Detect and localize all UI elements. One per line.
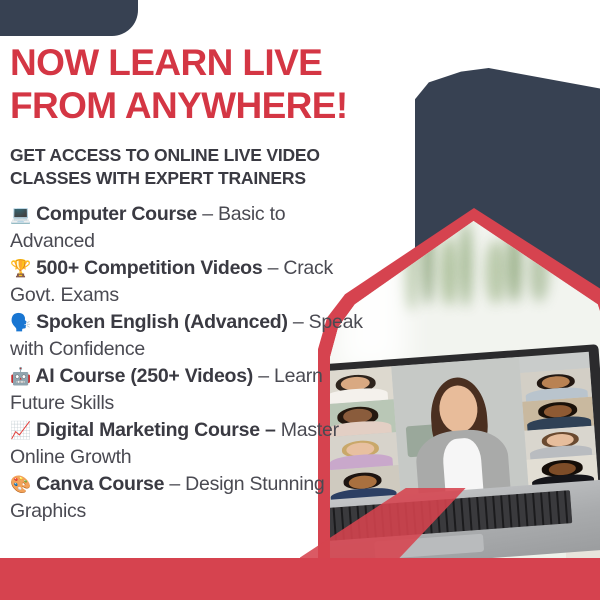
course-list-item: 💻 Computer Course – Basic to Advanced: [10, 201, 370, 255]
course-separator: –: [253, 365, 274, 387]
plant-leaf-icon: [460, 221, 472, 307]
course-list-item: 🤖 AI Course (250+ Videos) – Learn Future…: [10, 363, 370, 417]
course-separator: –: [262, 257, 283, 279]
course-separator: –: [197, 203, 218, 225]
robot-icon: 🤖: [10, 367, 31, 386]
course-separator: –: [164, 473, 185, 495]
headline-line-1: NOW LEARN LIVE: [10, 42, 322, 83]
subheading-line-1: GET ACCESS TO ONLINE LIVE VIDEO: [10, 145, 320, 165]
course-list-item: 🗣️ Spoken English (Advanced) – Speak wit…: [10, 309, 370, 363]
course-title: 500+ Competition Videos: [31, 257, 263, 279]
course-title: Canva Course: [31, 473, 164, 495]
course-title: Spoken English (Advanced): [31, 311, 288, 333]
navy-pentagon-cap: [415, 68, 600, 188]
artist-palette-icon: 🎨: [10, 475, 31, 494]
course-list-item: 🎨 Canva Course – Design Stunning Graphic…: [10, 471, 370, 525]
course-title: Computer Course: [31, 203, 197, 225]
course-separator: –: [288, 311, 309, 333]
poster-canvas: NOW LEARN LIVE FROM ANYWHERE! GET ACCESS…: [0, 0, 600, 600]
plant-leaf-icon: [485, 240, 507, 304]
course-title: Digital Marketing Course: [31, 419, 260, 441]
subheading-line-2: CLASSES WITH EXPERT TRAINERS: [10, 168, 306, 188]
speaking-head-icon: 🗣️: [10, 313, 31, 332]
trophy-icon: 🏆: [10, 259, 31, 278]
course-separator: –: [260, 419, 281, 441]
headline-line-2: FROM ANYWHERE!: [10, 85, 348, 126]
course-list-item: 🏆 500+ Competition Videos – Crack Govt. …: [10, 255, 370, 309]
laptop-icon: 💻: [10, 205, 31, 224]
subheading: GET ACCESS TO ONLINE LIVE VIDEO CLASSES …: [10, 144, 378, 190]
course-list-item: 📈 Digital Marketing Course – Master Onli…: [10, 417, 370, 471]
chart-increasing-icon: 📈: [10, 421, 31, 440]
course-list: 💻 Computer Course – Basic to Advanced🏆 5…: [10, 201, 370, 525]
course-title: AI Course (250+ Videos): [31, 365, 253, 387]
text-column: NOW LEARN LIVE FROM ANYWHERE! GET ACCESS…: [10, 0, 382, 600]
main-speaker-tile: [391, 357, 528, 498]
